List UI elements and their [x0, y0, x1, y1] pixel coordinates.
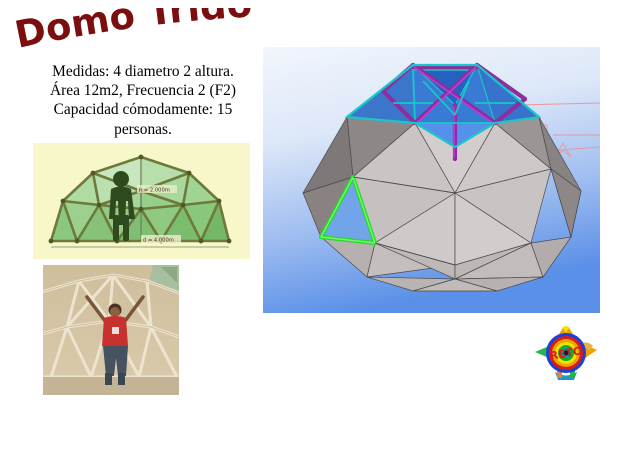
reto-logo: RETO: [533, 322, 599, 384]
spec-line-3: Capacidad cómodamente: 15: [24, 100, 262, 119]
height-dimension-label: h = 2.000m: [139, 188, 170, 194]
page-title-text: Domo Tridom: [14, 8, 253, 56]
spec-line-2: Área 12m2, Frecuencia 2 (F2): [24, 81, 262, 100]
spec-line-4: personas.: [24, 120, 262, 139]
diameter-dimension-label: d = 4.000m: [143, 237, 174, 243]
presentation-slide: Domo Tridom Medidas: 4 diametro 2 altura…: [0, 0, 640, 452]
dome-interior-photo: [43, 265, 179, 395]
page-title: Domo Tridom: [14, 8, 264, 56]
green-dome-elevation-diagram: h = 2.000m d = 4.000m: [33, 143, 250, 259]
tridom-3d-render: [263, 47, 600, 313]
dome-specs-text: Medidas: 4 diametro 2 altura. Área 12m2,…: [24, 62, 262, 139]
spec-line-1: Medidas: 4 diametro 2 altura.: [24, 62, 262, 81]
